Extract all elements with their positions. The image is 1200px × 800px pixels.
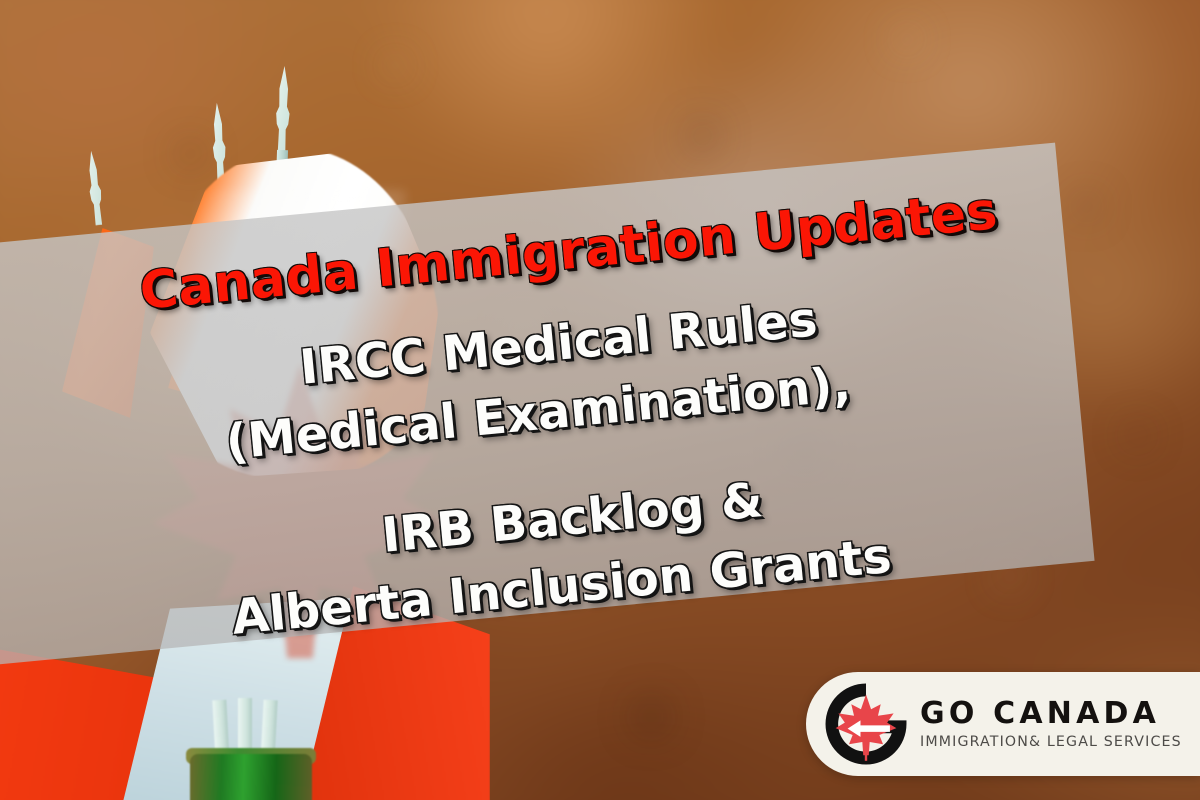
brand-logo-badge[interactable]: GO CANADA IMMIGRATION& LEGAL SERVICES xyxy=(806,672,1200,776)
brand-tagline: IMMIGRATION& LEGAL SERVICES xyxy=(920,735,1182,749)
go-canada-logo-mark xyxy=(820,678,912,770)
brand-logo-text: GO CANADA IMMIGRATION& LEGAL SERVICES xyxy=(920,699,1182,749)
brand-name: GO CANADA xyxy=(920,699,1182,730)
flag-holder xyxy=(190,754,312,800)
flag-finial-icon xyxy=(81,150,109,227)
poster-canvas: Canada Immigration Updates IRCC Medical … xyxy=(0,0,1200,800)
flag-finial-icon xyxy=(270,65,297,154)
